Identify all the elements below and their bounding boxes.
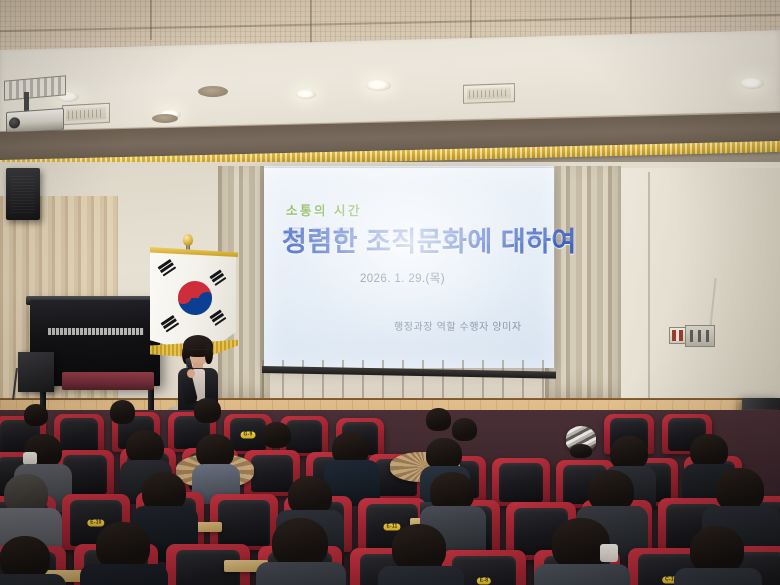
- audience-person: [196, 434, 238, 480]
- audience-person: [96, 522, 158, 585]
- wall-corner-line: [648, 172, 650, 402]
- projection-screen: 소통의 시간 청렴한 조직문화에 대하여 청렴한 조직문화에 대하여 2026.…: [264, 168, 554, 368]
- audience-person: [4, 474, 56, 534]
- audience-person: [272, 518, 334, 585]
- table-row[interactable]: [492, 458, 550, 506]
- downlight-off: [152, 114, 178, 123]
- audience-person: [426, 408, 452, 432]
- piano-bench: [62, 372, 154, 390]
- audience-person: [392, 524, 452, 585]
- audience-person: [566, 426, 596, 456]
- screen-light-glare: [264, 168, 554, 368]
- downlight: [366, 80, 391, 91]
- downlight: [740, 78, 764, 89]
- downlight-off: [198, 86, 228, 97]
- audience-person: [262, 422, 292, 450]
- audience-person: [126, 430, 170, 478]
- audience-person: [332, 432, 374, 480]
- air-conditioning-vent: [62, 103, 110, 126]
- ceiling-tile-seam: [150, 0, 152, 40]
- presenter-hand: [187, 369, 195, 378]
- audience-seating-area: G-9 G-7 C: [0, 410, 780, 585]
- audience-person: [690, 526, 752, 585]
- downlight: [296, 90, 316, 99]
- audience-person: [716, 468, 770, 530]
- slide-date: 2026. 1. 29.(목): [360, 270, 445, 286]
- presenter-hair-side: [205, 344, 213, 364]
- audience-person: [24, 404, 50, 428]
- ceiling-tile-seam: [310, 0, 312, 48]
- wall-power-outlet[interactable]: [669, 327, 686, 344]
- audience-person: [430, 472, 480, 530]
- auditorium-photo: 소통의 시간 청렴한 조직문화에 대하여 청렴한 조직문화에 대하여 2026.…: [0, 0, 780, 585]
- audience-person: [110, 400, 136, 426]
- flag-finial-icon: [183, 234, 193, 246]
- slide-presenter: 행정과장 역할 수행자 양미자: [394, 318, 522, 333]
- seat-label: G-9: [241, 432, 256, 439]
- stage-monitor-speaker: [18, 352, 54, 392]
- slide-subtitle: 소통의 시간: [286, 200, 362, 219]
- wall-mounted-speaker: [6, 168, 40, 220]
- audience-person: [0, 536, 56, 585]
- seat-label: E-8: [477, 577, 491, 584]
- glasses-icon: [188, 349, 209, 354]
- air-conditioning-vent: [463, 83, 515, 104]
- slide-title-reflection: 청렴한 조직문화에 대하여: [282, 224, 577, 248]
- wall-connector-panel[interactable]: [685, 325, 715, 347]
- face-mask: [600, 544, 618, 562]
- audience-person: [552, 518, 618, 585]
- piano-keyboard: [48, 328, 144, 335]
- audience-person: [194, 398, 222, 424]
- right-wall: [600, 168, 780, 430]
